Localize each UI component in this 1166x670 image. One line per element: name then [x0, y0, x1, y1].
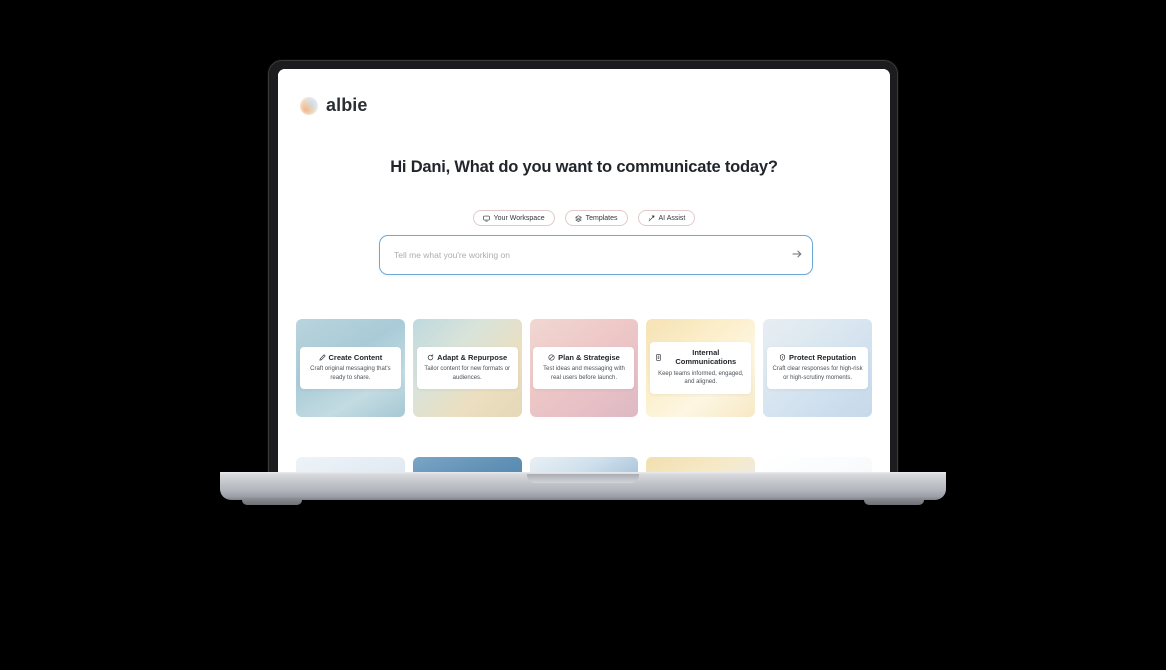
laptop-lid-notch: [527, 474, 639, 483]
category-card-content: Internal Communications Keep teams infor…: [650, 342, 751, 394]
monitor-icon: [483, 215, 490, 222]
page-title: Hi Dani, What do you want to communicate…: [278, 158, 890, 177]
category-card-description: Craft original messaging that's ready to…: [305, 365, 396, 382]
laptop-foot-right: [864, 498, 924, 505]
brand-logo[interactable]: albie: [300, 95, 368, 116]
category-card-description: Test ideas and messaging with real users…: [538, 365, 629, 382]
category-card-title-row: Protect Reputation: [772, 353, 863, 362]
category-card-title: Adapt & Repurpose: [437, 353, 507, 362]
category-card-description: Keep teams informed, engaged, and aligne…: [655, 370, 746, 387]
shield-icon: [779, 354, 786, 361]
category-card-adapt-repurpose[interactable]: Adapt & Repurpose Tailor content for new…: [413, 319, 522, 417]
layers-icon: [575, 215, 582, 222]
quick-action-label: Your Workspace: [494, 215, 545, 222]
laptop-screen: albie Hi Dani, What do you want to commu…: [278, 69, 890, 477]
category-card-title-row: Plan & Strategise: [538, 353, 629, 362]
target-icon: [548, 354, 555, 361]
laptop-screen-bezel: albie Hi Dani, What do you want to commu…: [268, 60, 898, 475]
category-card-content: Adapt & Repurpose Tailor content for new…: [417, 347, 518, 390]
category-card-content: Create Content Craft original messaging …: [300, 347, 401, 390]
category-card-description: Tailor content for new formats or audien…: [422, 365, 513, 382]
category-card-title-row: Create Content: [305, 353, 396, 362]
prompt-bar[interactable]: [379, 235, 813, 275]
category-card-title-row: Internal Communications: [655, 348, 746, 367]
category-card-title: Plan & Strategise: [558, 353, 620, 362]
brand-name: albie: [326, 95, 368, 116]
prompt-submit-button[interactable]: [782, 236, 812, 274]
category-card-plan-strategise[interactable]: Plan & Strategise Test ideas and messagi…: [530, 319, 639, 417]
category-card-content: Protect Reputation Craft clear responses…: [767, 347, 868, 390]
category-card-protect-reputation[interactable]: Protect Reputation Craft clear responses…: [763, 319, 872, 417]
category-card-description: Craft clear responses for high-risk or h…: [772, 365, 863, 382]
category-card-title-row: Adapt & Repurpose: [422, 353, 513, 362]
quick-action-label: AI Assist: [659, 215, 686, 222]
category-card-create-content[interactable]: Create Content Craft original messaging …: [296, 319, 405, 417]
quick-action-ai-assist[interactable]: AI Assist: [638, 210, 696, 226]
category-card-internal-communications[interactable]: Internal Communications Keep teams infor…: [646, 319, 755, 417]
prompt-input[interactable]: [380, 236, 782, 274]
arrow-right-icon: [791, 248, 803, 263]
quick-action-your-workspace[interactable]: Your Workspace: [473, 210, 555, 226]
pencil-icon: [319, 354, 326, 361]
quick-action-templates[interactable]: Templates: [565, 210, 628, 226]
quick-action-label: Templates: [586, 215, 618, 222]
category-cards-row: Create Content Craft original messaging …: [296, 319, 872, 417]
laptop-foot-left: [242, 498, 302, 505]
category-card-title: Protect Reputation: [789, 353, 856, 362]
gradient-orb-icon: [300, 97, 318, 115]
wand-sparkle-icon: [648, 215, 655, 222]
category-card-title: Create Content: [329, 353, 383, 362]
building-icon: [655, 354, 662, 361]
laptop-mockup: albie Hi Dani, What do you want to commu…: [0, 0, 1166, 670]
refresh-icon: [427, 354, 434, 361]
quick-actions-row: Your Workspace Templates: [278, 210, 890, 226]
app-window: albie Hi Dani, What do you want to commu…: [278, 69, 890, 477]
category-card-content: Plan & Strategise Test ideas and messagi…: [533, 347, 634, 390]
category-card-title: Internal Communications: [665, 348, 746, 367]
